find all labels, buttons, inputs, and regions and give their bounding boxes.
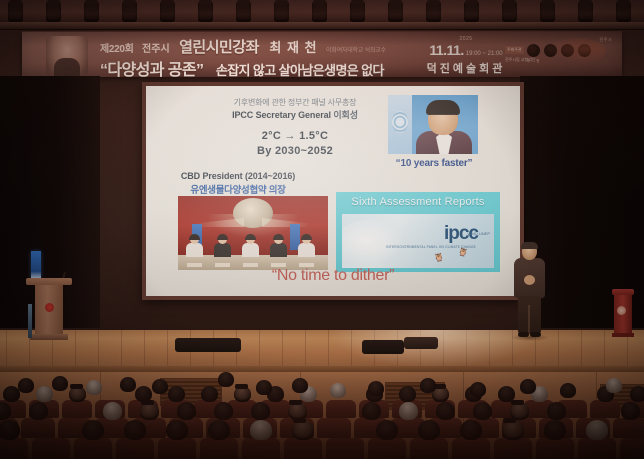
audience-member-head <box>177 402 196 420</box>
floor-plank <box>282 330 283 368</box>
audience-seat <box>620 438 644 459</box>
audience-member-head <box>330 383 346 398</box>
audience-member-head <box>120 377 136 392</box>
stage-light-icon <box>312 2 327 22</box>
slide-ipcc-en: IPCC Secretary General <box>232 110 331 120</box>
stage-light-icon <box>426 2 441 22</box>
lectern-emblem-icon <box>45 303 54 312</box>
stage-monitor-speaker <box>175 338 241 352</box>
stage-light-icon <box>236 2 251 22</box>
audience-member-head <box>124 420 146 440</box>
floor-plank <box>259 330 260 368</box>
audience-seat <box>494 438 532 459</box>
un-panel-member <box>242 235 259 257</box>
banner-series-number: 제220회 <box>100 44 134 55</box>
stage-light-icon <box>502 2 517 22</box>
audience-member-head <box>436 402 455 420</box>
slide-un-conference-photo <box>178 196 328 270</box>
audience-member-head <box>547 402 566 420</box>
stage-light-icon <box>46 2 61 22</box>
audience-member-head <box>256 380 272 395</box>
audience-member-head <box>103 402 122 420</box>
slide-sar-cover: ipcc INTERGOVERNMENTAL PANEL ON CLIMATE … <box>342 214 494 268</box>
sar-cloud-graphic <box>342 220 404 266</box>
red-side-stand <box>612 289 634 337</box>
stage-light-icon <box>160 2 175 22</box>
audience-seat <box>32 438 70 459</box>
audience-member-head <box>52 376 68 391</box>
audience-member-head <box>69 386 86 402</box>
floor-plank <box>328 330 329 368</box>
lecturer-shoe <box>518 332 529 337</box>
red-stand-base <box>612 333 634 337</box>
stage-light-icon <box>84 2 99 22</box>
audience-member-head <box>606 378 622 393</box>
stage-light-icon <box>388 2 403 22</box>
banner-date: 11.11. <box>429 42 463 58</box>
slide-cbd-english: CBD President (2014~2016) <box>154 171 322 181</box>
red-stand-emblem-icon <box>617 306 626 315</box>
audience-member-head <box>140 402 159 420</box>
slide-sar-panel: Sixth Assessment Reports ipcc INTERGOVER… <box>336 192 500 272</box>
banner-quote: “다양성과 공존” <box>100 62 203 77</box>
audience-member-head <box>621 402 640 420</box>
audience-member-head <box>470 382 486 397</box>
slide-ipcc-korean-title: 기후변화에 관한 정부간 패널 사무총장 <box>190 97 400 108</box>
floor-plank <box>144 330 145 368</box>
audience-member-head <box>376 420 398 440</box>
lecturer-leg-gap <box>528 305 530 334</box>
stage-light-icon <box>540 2 555 22</box>
un-flag-icon <box>388 95 412 154</box>
audience-seat <box>74 438 112 459</box>
portrait-glasses-icon <box>431 114 456 121</box>
audience-member-head <box>362 402 381 420</box>
audience-seat <box>368 438 406 459</box>
truss-bar <box>0 22 644 29</box>
audience-member-head <box>0 420 20 440</box>
slide-timeframe-line: By 2030~2052 <box>190 145 400 157</box>
banner-city: 전주시 <box>142 44 170 55</box>
audience-member-head <box>502 420 524 440</box>
audience-seat <box>116 438 154 459</box>
audience-member-head <box>166 420 188 440</box>
audience-member-head <box>292 378 308 393</box>
lectern <box>26 278 72 340</box>
un-panel-member <box>270 235 287 257</box>
lectern-base <box>30 334 68 340</box>
audience-seat <box>536 438 574 459</box>
audience-member-head <box>29 402 48 420</box>
audience-member-head <box>82 420 104 440</box>
audience-member-head <box>18 378 34 393</box>
stage-light-icon <box>274 2 289 22</box>
panel-member-hair <box>217 234 228 240</box>
audience-member-head <box>201 386 218 402</box>
audience-member-head <box>0 402 11 420</box>
audience-member-head <box>368 381 384 396</box>
audience-seat <box>62 400 92 418</box>
banner-right-logo: 전주시 <box>599 37 612 43</box>
slide-ipcc-person-korean: 이회성 <box>333 110 358 120</box>
banner-venue: 덕진예술회관 <box>416 60 516 76</box>
audience-seat <box>242 438 280 459</box>
audience-member-head <box>251 402 270 420</box>
banner-sponsor-label: 후 원 <box>527 59 542 64</box>
lecturer-hair <box>521 242 538 249</box>
stage-light-icon <box>122 2 137 22</box>
audience-member-head <box>234 386 251 402</box>
audience-member-head <box>460 420 482 440</box>
floor-plank <box>6 330 7 368</box>
audience-seat <box>0 438 28 459</box>
floor-plank <box>98 330 99 368</box>
slide-sar-title: Sixth Assessment Reports <box>336 196 500 208</box>
stage-light-icon <box>578 2 593 22</box>
banner-date-block: 2025 11.11.19:00 ~ 21:00 덕진예술회관 <box>416 36 516 76</box>
panel-member-hair <box>301 234 312 240</box>
banner-quote-row: “다양성과 공존” 손잡지 않고 살아남은생명은 없다 <box>100 56 384 77</box>
audience-seat <box>452 438 490 459</box>
sponsor-logo-icon <box>527 44 540 57</box>
banner-host-tag: 주최주관 <box>505 46 524 54</box>
audience-seat <box>326 438 364 459</box>
audience-member-head <box>399 386 416 402</box>
stage-light-icon <box>464 2 479 22</box>
stage-light-icon <box>198 2 213 22</box>
slide-bottom-quote: “No time to dither” <box>146 267 520 285</box>
un-panel-member <box>214 235 231 257</box>
un-panel-member <box>186 235 203 257</box>
slide-temperature-line: 2°C → 1.5°C <box>190 130 400 142</box>
audience-seat <box>326 400 356 418</box>
banner-title-row: 제220회 전주시 열린시민강좌 최 재 천 이화여자대학교 석좌교수 <box>100 36 386 57</box>
audience-member-head <box>292 420 314 440</box>
audience-member-head <box>544 420 566 440</box>
audience-member-head <box>250 420 272 440</box>
lecturer-shoe <box>530 332 541 337</box>
auditorium-photo: 제220회 전주시 열린시민강좌 최 재 천 이화여자대학교 석좌교수 “다양성… <box>0 0 644 459</box>
portrait-hair <box>426 100 460 115</box>
panel-member-body <box>186 243 203 257</box>
projection-screen-frame: 기후변화에 관한 정부간 패널 사무총장 IPCC Secretary Gene… <box>142 82 524 300</box>
audience-member-head <box>630 386 644 402</box>
slide-ipcc-english-title: IPCC Secretary General 이회성 <box>190 108 400 121</box>
floor-plank <box>167 330 168 368</box>
panel-member-body <box>270 243 287 257</box>
panel-member-hair <box>273 234 284 240</box>
audience-seat <box>410 438 448 459</box>
audience-seat <box>200 438 238 459</box>
audience-member-head <box>418 420 440 440</box>
bird-icon: 🦉 <box>433 253 444 263</box>
floor-plank <box>558 330 559 368</box>
audience-seat <box>317 418 351 438</box>
panel-member-body <box>242 243 259 257</box>
banner-leaf-graphic <box>546 38 606 64</box>
audience-seat <box>158 438 196 459</box>
panel-member-body <box>214 243 231 257</box>
audience-member-head <box>208 420 230 440</box>
slide-portrait-caption: “10 years faster” <box>384 158 484 169</box>
lecturer <box>510 243 548 339</box>
stage-light-icon <box>8 2 23 22</box>
audience-seat <box>578 438 616 459</box>
banner-speaker-affiliation: 이화여자대학교 석좌교수 <box>326 48 386 54</box>
un-panel-member <box>298 235 315 257</box>
floor-plank <box>75 330 76 368</box>
audience-member-head <box>168 386 185 402</box>
stage-monitor-speaker <box>362 340 404 354</box>
banner-program-title: 열린시민강좌 <box>179 39 259 56</box>
audience-member-head <box>214 402 233 420</box>
event-banner: 제220회 전주시 열린시민강좌 최 재 천 이화여자대학교 석좌교수 “다양성… <box>22 31 622 77</box>
audience-member-head <box>152 379 168 394</box>
banner-speaker-name: 최 재 천 <box>269 40 317 55</box>
floor-plank <box>581 330 582 368</box>
audience-member-head <box>560 383 576 398</box>
lectern-side-stand <box>28 304 32 338</box>
audience-member-head <box>3 386 20 402</box>
floor-plank <box>604 330 605 368</box>
slide-portrait-photo <box>388 95 478 154</box>
audience-seat <box>284 438 322 459</box>
floor-plank <box>121 330 122 368</box>
banner-speaker-portrait <box>46 36 88 77</box>
audience-seat <box>590 400 620 418</box>
stage-light-icon <box>616 2 631 22</box>
banner-time: 19:00 ~ 21:00 <box>466 51 503 57</box>
lectern-top <box>26 278 72 285</box>
audience-member-head <box>218 372 234 387</box>
audience-member-head <box>586 420 608 440</box>
audience-seat <box>21 418 55 438</box>
lectern-display-screen <box>31 251 41 280</box>
audience-member-head <box>473 402 492 420</box>
panel-member-hair <box>245 234 256 240</box>
projection-screen: 기후변화에 관한 정부간 패널 사무총장 IPCC Secretary Gene… <box>146 86 520 296</box>
bird-icon: 🦉 <box>457 248 469 258</box>
panel-member-body <box>298 243 315 257</box>
panel-member-hair <box>189 234 200 240</box>
wmo-unep-label: WMO UNEP <box>468 231 490 236</box>
audience-member-head <box>86 380 102 395</box>
audience-member-head <box>420 378 436 393</box>
lecturer-hands <box>524 275 535 285</box>
slide-cbd-korean: 유엔생물다양성협약 의장 <box>154 182 322 196</box>
banner-subtitle: 손잡지 않고 살아남은생명은 없다 <box>216 63 384 77</box>
audience-member-head <box>520 379 536 394</box>
stage-monitor-speaker <box>404 337 438 349</box>
stage-light-icon <box>350 2 365 22</box>
audience-seat <box>613 418 644 438</box>
audience-member-head <box>399 402 418 420</box>
floor-plank <box>305 330 306 368</box>
audience-member-head <box>36 386 53 402</box>
